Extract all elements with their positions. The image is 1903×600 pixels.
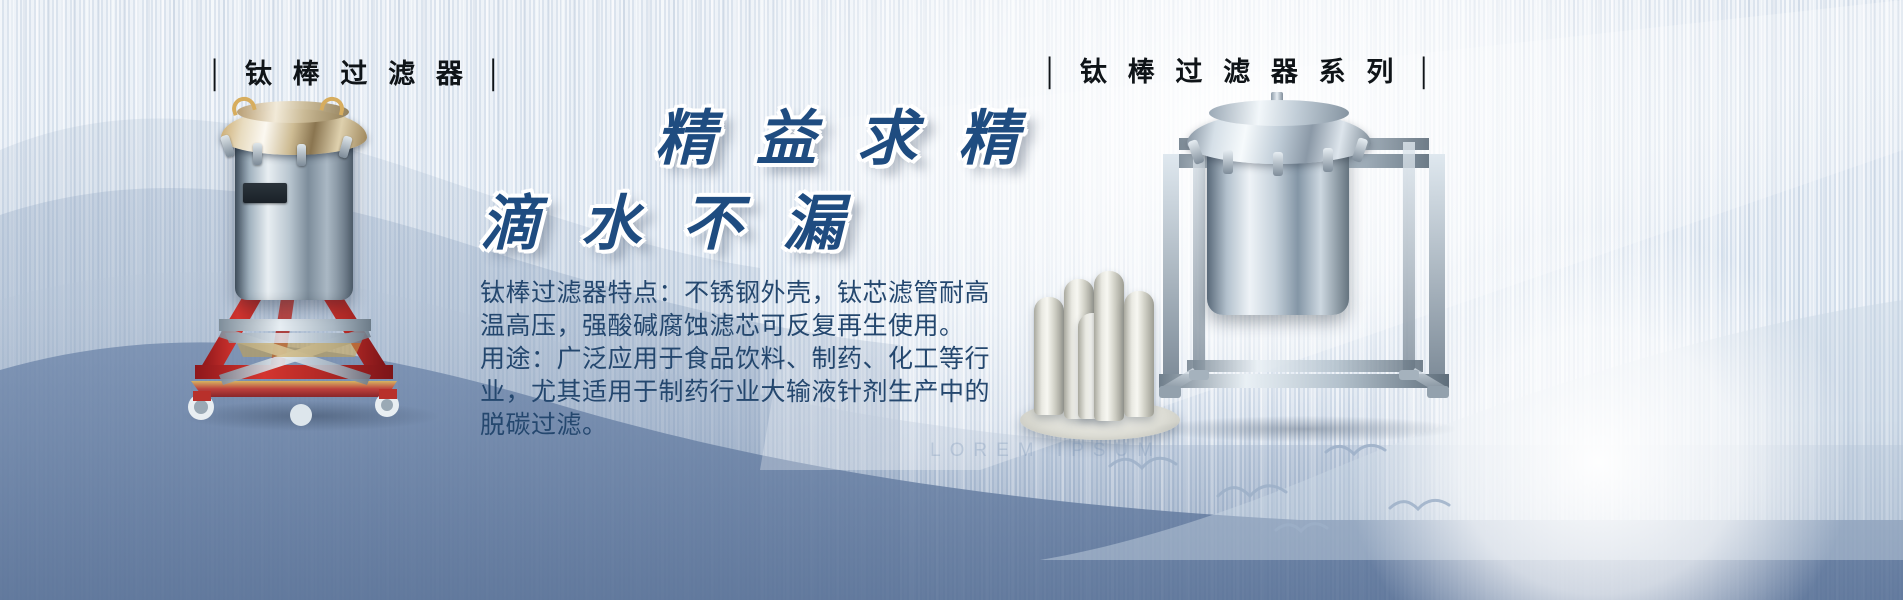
product-image-left [165,95,455,425]
description-line: 钛棒过滤器特点：不锈钢外壳，钛芯滤管耐高 [480,277,1000,310]
filter-cartridge [1094,271,1124,421]
filter-cartridge [1034,297,1064,415]
product-description: 钛棒过滤器特点：不锈钢外壳，钛芯滤管耐高 温高压，强酸碱腐蚀滤芯可反复再生使用。… [480,277,1000,442]
left-vessel-clamp [253,143,262,165]
description-line: 业，尤其适用于制药行业大输液针剂生产中的 [480,376,1000,409]
product-banner: │ 钛 棒 过 滤 器 │ │ 钛 棒 过 滤 器 系 列 │ 精 益 求 精 … [0,0,1903,600]
headline-line-2: 滴 水 不 漏 [480,175,856,262]
product-image-right [1145,78,1465,438]
description-line: 温高压，强酸碱腐蚀滤芯可反复再生使用。 [480,310,1000,343]
headline-line-1: 精 益 求 精 [655,90,1031,177]
section-title-right: │ 钛 棒 过 滤 器 系 列 │ [1040,50,1440,89]
section-title-left: │ 钛 棒 过 滤 器 │ [205,52,510,91]
description-line: 用途：广泛应用于食品饮料、制药、化工等行 [480,343,1000,376]
watermark-text: LOREM IPSUM [930,440,1162,462]
left-vessel-clamp [297,144,306,166]
right-vessel-clamp [1323,148,1333,172]
description-line: 脱碳过滤。 [480,409,1000,442]
right-vessel-clamp [1223,150,1233,174]
right-vessel-lid-top [1209,100,1349,126]
right-vessel-clamp [1273,152,1283,176]
left-vessel-nameplate [243,183,287,203]
